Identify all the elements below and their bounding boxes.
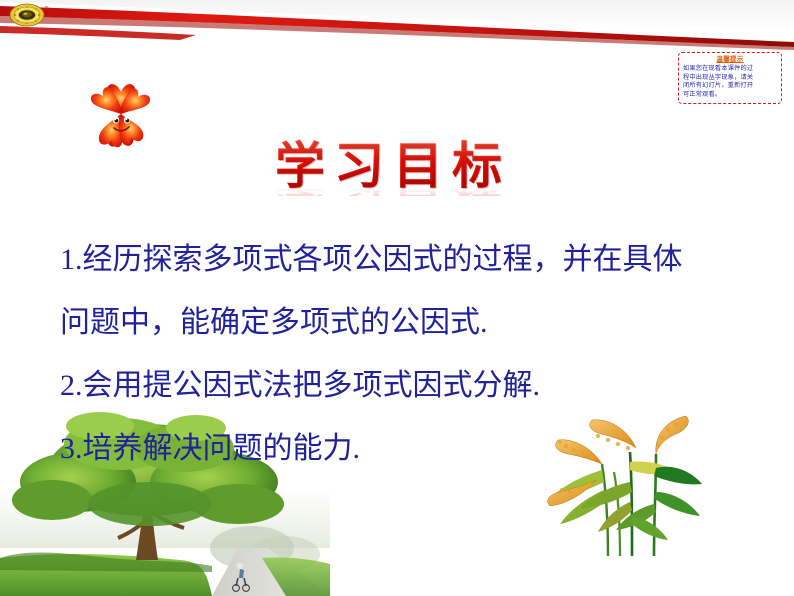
- objective-line: 问题中，能确定多项式的公因式.: [60, 291, 760, 354]
- red-starfish-mascot: [82, 76, 160, 156]
- note-body: 如果您在现看本课件的过 程中出现丛字现象，请关 闭所有幻灯片，重新打开 可正常观…: [683, 65, 777, 99]
- title-reflection: 学习目标: [248, 188, 538, 196]
- note-line: 如果您在现看本课件的过: [683, 65, 777, 74]
- objective-line: 1.经历探索多项式各项公因式的过程，并在具体: [60, 228, 760, 291]
- circular-gold-emblem-logo: ®: [7, 2, 51, 28]
- presentation-slide: ® 温馨提示 如果您在现看本课件的过 程中出现丛字现象，请关 闭所有幻灯片，重新…: [0, 0, 794, 596]
- page-title: 学习目标 学习目标: [248, 138, 538, 210]
- note-line: 可正常观看。: [683, 91, 777, 100]
- reminder-note-box: 温馨提示 如果您在现看本课件的过 程中出现丛字现象，请关 闭所有幻灯片，重新打开…: [678, 52, 782, 104]
- red-swoosh-banner: [0, 0, 794, 62]
- objectives-list: 1.经历探索多项式各项公因式的过程，并在具体 问题中，能确定多项式的公因式. 2…: [60, 228, 760, 480]
- note-line: 程中出现丛字现象，请关: [683, 74, 777, 83]
- note-title: 温馨提示: [683, 56, 777, 64]
- title-text: 学习目标: [248, 138, 538, 194]
- objective-line: 3.培养解决问题的能力.: [60, 417, 760, 480]
- note-line: 闭所有幻灯片，重新打开: [683, 82, 777, 91]
- svg-text:®: ®: [44, 5, 49, 12]
